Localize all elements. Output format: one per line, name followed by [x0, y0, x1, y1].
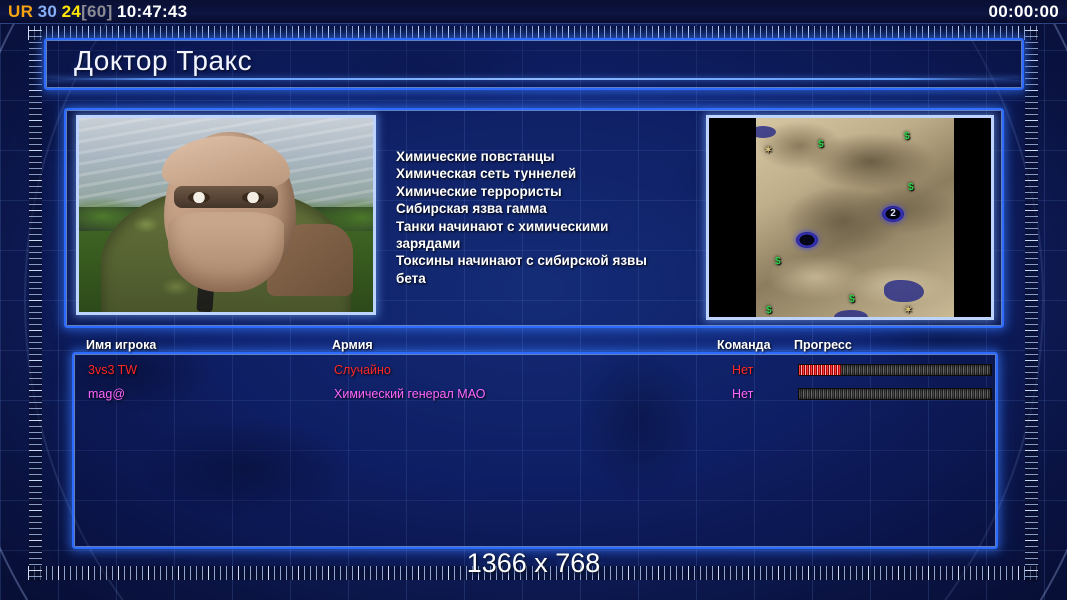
player-list-panel: 3vs3 TWСлучайноНетmag@Химический генерал…: [72, 352, 998, 549]
map-terrain-image: $$$$$$✶✶2: [756, 118, 954, 317]
game-lobby-screen: UR 30 24 [60] 10:47:43 00:00:00 Доктор Т…: [0, 0, 1067, 600]
player-army: Химический генерал МАО: [334, 382, 485, 406]
ability-item: Химическая сеть туннелей: [396, 165, 696, 182]
map-marker-star-✶: ✶: [904, 306, 912, 316]
ability-item: Сибирская язва гамма: [396, 200, 696, 217]
status-ping: 30: [38, 2, 58, 22]
map-marker-spawn: [796, 232, 818, 248]
map-marker-cash-$: $: [775, 257, 781, 267]
column-header-player: Имя игрока: [86, 338, 156, 352]
status-ur-label: UR: [8, 2, 33, 22]
status-clock: 10:47:43: [117, 2, 187, 22]
ability-item: Токсины начинают с сибирской язвы бета: [396, 252, 696, 287]
map-marker-cash-$: $: [904, 132, 910, 142]
map-marker-cash-$: $: [849, 295, 855, 305]
title-divider: [46, 78, 1022, 80]
player-table-header: Имя игрока Армия Команда Прогресс: [72, 338, 998, 354]
title-panel: Доктор Тракс: [44, 38, 1024, 90]
player-army: Случайно: [334, 358, 391, 382]
map-marker-star-✶: ✶: [764, 146, 772, 156]
portrait-eye-right: [242, 192, 264, 203]
table-row[interactable]: mag@Химический генерал МАОНет: [74, 382, 1000, 406]
map-water-2: [884, 280, 924, 302]
status-bar: UR 30 24 [60] 10:47:43 00:00:00: [0, 0, 1067, 24]
map-water-3: [834, 310, 868, 317]
column-header-army: Армия: [332, 338, 373, 352]
ruler-right: [1025, 30, 1038, 582]
status-fps-max: [60]: [81, 2, 112, 22]
progress-bar: [798, 388, 992, 400]
status-fps: 24: [62, 2, 82, 22]
map-marker-cash-$: $: [766, 306, 772, 316]
map-marker-cash-$: $: [908, 183, 914, 193]
resolution-label: 1366 x 768: [0, 548, 1067, 579]
progress-bar-fill: [799, 365, 841, 375]
map-marker-spawn-2: 2: [882, 206, 904, 222]
page-title: Доктор Тракс: [74, 45, 252, 77]
player-name: mag@: [88, 382, 125, 406]
general-portrait: [76, 115, 376, 315]
player-name: 3vs3 TW: [88, 358, 137, 382]
status-timer: 00:00:00: [989, 2, 1059, 22]
table-row[interactable]: 3vs3 TWСлучайноНет: [74, 358, 1000, 382]
ability-item: Химические повстанцы: [396, 148, 696, 165]
ability-item: Танки начинают с химическими зарядами: [396, 218, 696, 253]
ability-item: Химические террористы: [396, 183, 696, 200]
column-header-team: Команда: [717, 338, 771, 352]
column-header-progress: Прогресс: [794, 338, 852, 352]
ruler-left: [29, 30, 42, 582]
map-water-1: [756, 126, 776, 138]
player-team: Нет: [732, 382, 753, 406]
portrait-eye-left: [188, 192, 210, 203]
player-team: Нет: [732, 358, 753, 382]
progress-bar: [798, 364, 992, 376]
map-preview: $$$$$$✶✶2: [706, 115, 994, 320]
map-marker-cash-$: $: [818, 140, 824, 150]
general-ability-list: Химические повстанцыХимическая сеть тунн…: [396, 148, 696, 287]
